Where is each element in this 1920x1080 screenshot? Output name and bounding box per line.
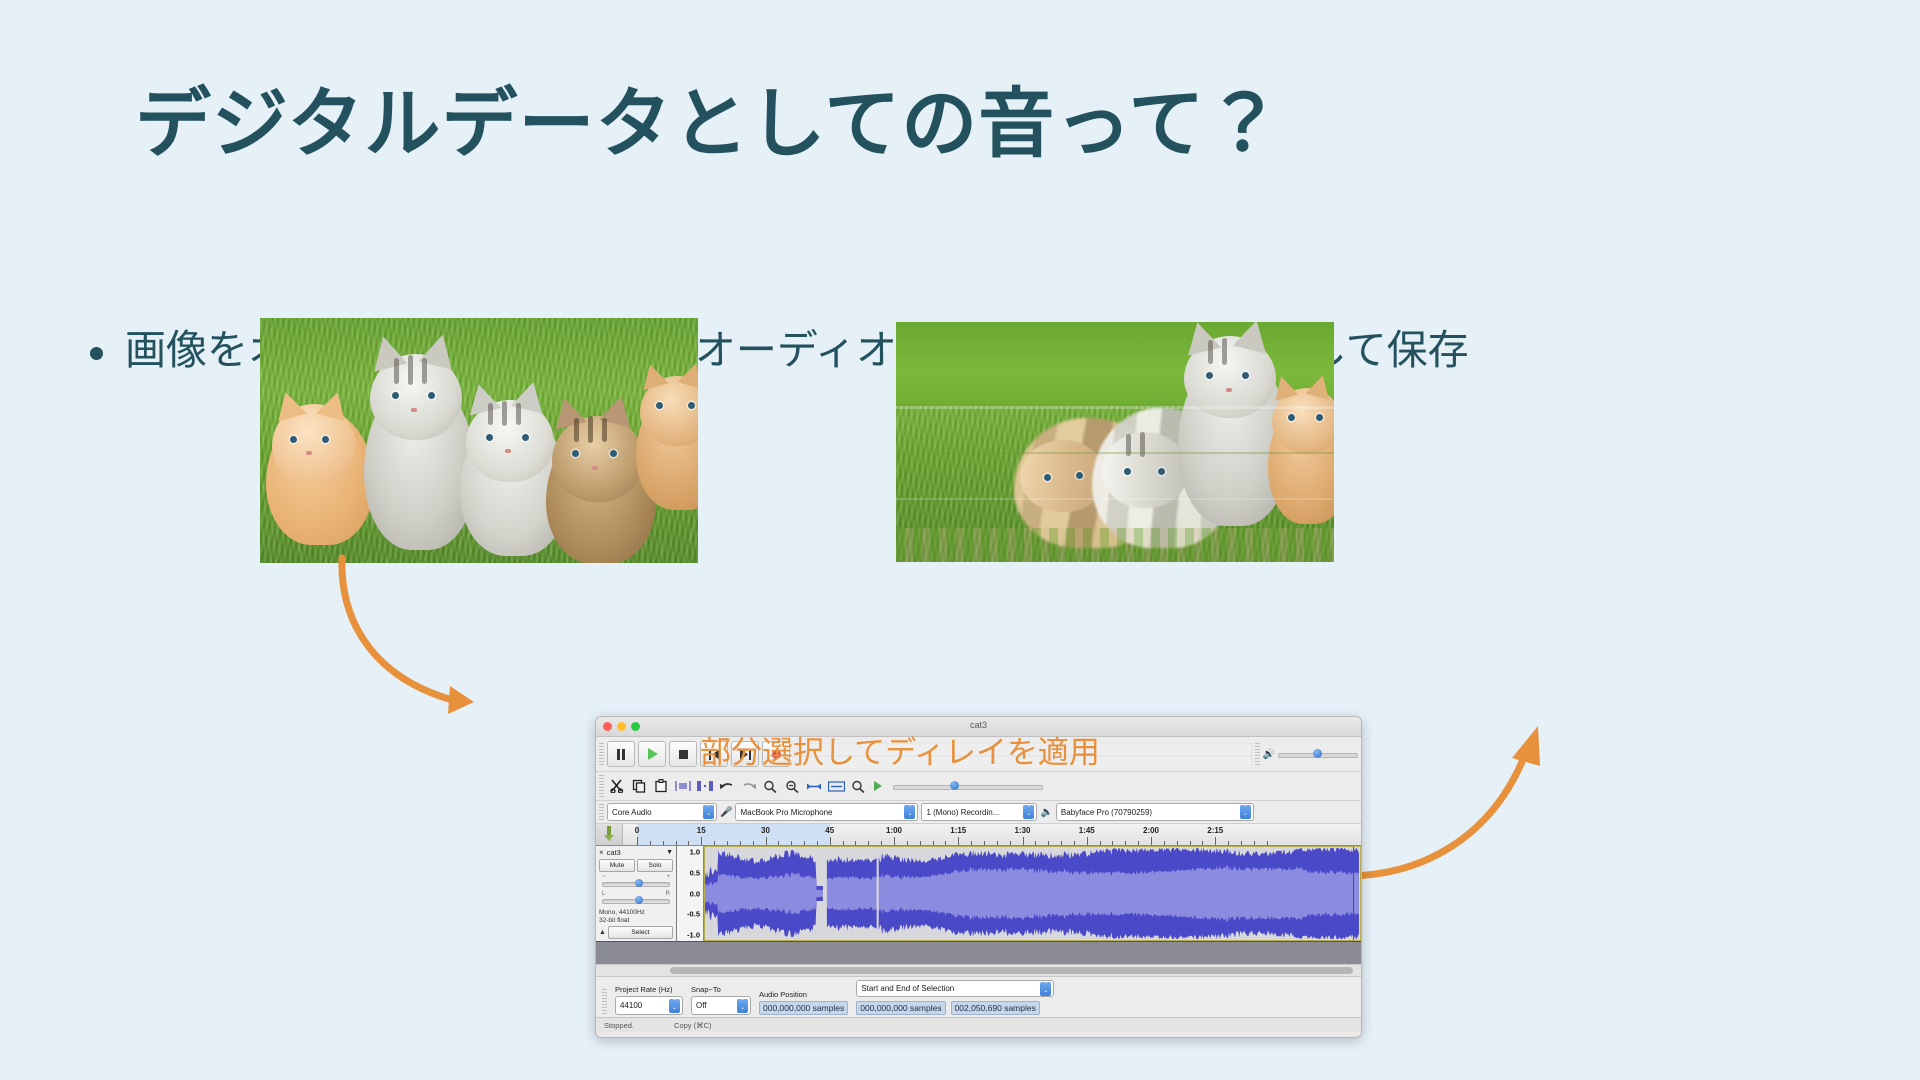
playback-device-select[interactable]: Babyface Pro (70790259) ⌃⌄ [1056,803,1254,821]
silence-audio-button[interactable] [695,777,714,796]
timeline-label: 45 [825,826,834,835]
timeline-tick [855,841,856,845]
track-control-panel[interactable]: × cat3 ▼ Mute Solo − + [596,846,677,941]
timeline-tick [1215,837,1216,845]
timeline-tick [1112,841,1113,845]
selection-end-value[interactable]: 002,050,690 samples [951,1001,1040,1015]
audio-host-value: Core Audio [612,808,701,817]
pan-slider[interactable]: L R [599,893,673,906]
snap-to-stepper[interactable]: ⌃⌄ [737,999,748,1013]
audio-position-value[interactable]: 000,000,000 samples [759,1001,848,1015]
timeline-tick [1087,837,1088,845]
timeline-tick [650,841,651,845]
gain-slider[interactable]: − + [599,876,673,889]
selection-mode-stepper[interactable]: ⌃⌄ [1040,982,1051,996]
timeline-tick [843,841,844,845]
timeline-tick [881,841,882,845]
timeline-tick [1164,841,1165,845]
timeline-tick [714,841,715,845]
collapse-track-button[interactable]: ▲ [599,929,606,936]
recording-device-select[interactable]: MacBook Pro Microphone ⌃⌄ [735,803,918,821]
play-at-speed-button[interactable] [871,777,890,796]
project-rate-field[interactable]: Project Rate (Hz) 44100 ⌃⌄ [615,985,683,1015]
timeline-pinned-play-button[interactable] [596,824,623,845]
audio-position-field[interactable]: Audio Position 000,000,000 samples [759,990,848,1015]
timeline-label: 2:00 [1143,826,1159,835]
selection-edge-cursor [1353,847,1354,940]
timeline-tick [1267,841,1268,845]
timeline-tick [1074,841,1075,845]
timeline-tick [907,841,908,845]
timeline-tick [766,837,767,845]
vertical-ruler-label: 0.0 [690,889,700,898]
snap-to-label: Snap−To [691,985,751,994]
timeline-tick [868,841,869,845]
zoom-in-button[interactable] [761,777,780,796]
timeline-tick [1035,841,1036,845]
timeline-tick [727,841,728,845]
timeline-label: 0 [635,826,639,835]
pan-right-label: R [666,891,670,897]
timeline-label: 30 [761,826,770,835]
vertical-ruler-label: 1.0 [690,848,700,857]
timeline-tick [1177,841,1178,845]
close-track-button[interactable]: × [599,848,604,857]
audio-position-label: Audio Position [759,990,848,999]
page-title: デジタルデータとしての音って？ [135,62,1282,172]
timeline-tick [688,841,689,845]
zoom-toggle-button[interactable] [849,777,868,796]
mute-button[interactable]: Mute [599,859,635,872]
timeline-tick [740,841,741,845]
timeline-tick [1023,837,1024,845]
playback-device-value: Babyface Pro (70790259) [1061,808,1238,817]
audio-host-select[interactable]: Core Audio ⌃⌄ [607,803,717,821]
waveform-display[interactable] [704,846,1361,941]
recording-device-value: MacBook Pro Microphone [740,808,902,817]
vertical-ruler-label: -1.0 [687,931,700,940]
edit-toolbar-grip[interactable] [599,775,604,797]
vertical-ruler-label: 0.5 [690,868,700,877]
timeline-tick [945,841,946,845]
stop-button[interactable] [669,741,697,767]
status-hint: Copy (⌘C) [674,1021,712,1030]
gain-slider-thumb[interactable] [635,879,643,887]
recording-channels-value: 1 (Mono) Recordin... [926,808,1021,817]
device-toolbar-grip[interactable] [599,804,604,820]
snap-to-select[interactable]: Off ⌃⌄ [691,996,751,1015]
timeline-tick [1254,841,1255,845]
timeline-tick [1151,837,1152,845]
speaker-icon-device: 🔈 [1040,807,1052,818]
pan-left-label: L [602,891,605,897]
audio-track[interactable]: × cat3 ▼ Mute Solo − + [596,846,1361,942]
timeline-tick [971,841,972,845]
horizontal-scrollbar[interactable] [596,964,1361,976]
selection-start-value[interactable]: 000,000,000 samples [856,1001,945,1015]
timeline-tick [920,841,921,845]
fit-selection-button[interactable] [805,777,824,796]
device-toolbar[interactable]: Core Audio ⌃⌄ 🎤 MacBook Pro Microphone ⌃… [596,801,1361,824]
status-state: Stopped. [604,1021,634,1030]
fit-project-button[interactable] [827,777,846,796]
selection-toolbar-grip[interactable] [602,989,607,1015]
cut-button[interactable] [607,777,626,796]
timeline-tick [1100,841,1101,845]
gain-minus-label: − [602,874,606,880]
vertical-ruler: 1.00.50.0-0.5-1.0 [677,846,704,941]
output-volume-slider[interactable] [1278,747,1358,761]
project-rate-stepper[interactable]: ⌃⌄ [669,999,680,1013]
timeline-tick [933,841,934,845]
playback-device-stepper[interactable]: ⌃⌄ [1240,805,1251,819]
timeline-label: 1:15 [950,826,966,835]
paste-button[interactable] [651,777,670,796]
track-area[interactable]: × cat3 ▼ Mute Solo − + [596,846,1361,964]
track-format-line-2: 32-bit float [599,917,673,925]
timeline-tick [1228,841,1229,845]
timeline-tick [676,841,677,845]
recording-channels-select[interactable]: 1 (Mono) Recordin... ⌃⌄ [921,803,1037,821]
timeline-tick [753,841,754,845]
snap-to-value: Off [696,1001,735,1010]
original-kitten-photo [260,318,698,563]
timeline-tick [958,837,959,845]
timeline-tick [1048,841,1049,845]
arrow-from-audacity [1340,690,1580,890]
timeline-tick [1202,841,1203,845]
toolbar-grip[interactable] [599,743,604,765]
timeline-tick [997,841,998,845]
selection-mode-value: Start and End of Selection [861,984,1038,993]
timeline-tick [1061,841,1062,845]
timeline-tick [663,841,664,845]
project-rate-select[interactable]: 44100 ⌃⌄ [615,996,683,1015]
copy-button[interactable] [629,777,648,796]
timeline-label: 1:45 [1079,826,1095,835]
timeline-tick [1190,841,1191,845]
timeline-tick [1125,841,1126,845]
status-bar: Stopped. Copy (⌘C) [596,1017,1361,1032]
selection-field[interactable]: Start and End of Selection ⌃⌄ 000,000,00… [856,980,1355,1015]
slide-root: デジタルデータとしての音って？ 画像をオーディオとして読み、オーディオを編集して… [0,0,1920,1080]
pause-button[interactable] [607,741,635,767]
timeline-selection-region [637,824,830,845]
overlay-annotation-text: 部分選択してディレイを適用 [700,727,1100,772]
timeline-tick [637,837,638,845]
redo-button[interactable] [739,777,758,796]
selection-mode-select[interactable]: Start and End of Selection ⌃⌄ [856,980,1054,997]
timeline-tick [1138,841,1139,845]
play-speed-slider[interactable] [893,780,1043,792]
track-menu-button[interactable]: ▼ [666,849,673,856]
timeline-tick [830,837,831,845]
project-rate-label: Project Rate (Hz) [615,985,683,994]
solo-button[interactable]: Solo [637,859,673,872]
timeline-label: 1:30 [1014,826,1030,835]
microphone-icon: 🎤 [720,807,732,818]
play-button[interactable] [638,741,666,767]
snap-to-field[interactable]: Snap−To Off ⌃⌄ [691,985,751,1015]
recording-device-stepper[interactable]: ⌃⌄ [904,805,915,819]
timeline-tick [817,841,818,845]
timeline-scale[interactable]: 01530451:001:151:301:452:002:15 [623,824,1361,845]
recording-channels-stepper[interactable]: ⌃⌄ [1023,805,1034,819]
timeline-label: 1:00 [886,826,902,835]
timeline-label: 2:15 [1207,826,1223,835]
arrow-to-audacity [300,548,560,748]
volume-toolbar-grip[interactable] [1255,743,1260,765]
timeline-tick [1010,841,1011,845]
speaker-icon: 🔊 [1263,749,1275,760]
gain-plus-label: + [666,874,670,880]
undo-button[interactable] [717,777,736,796]
timeline-tick [791,841,792,845]
timeline-tick [1241,841,1242,845]
bullet-marker [90,347,103,360]
zoom-out-button[interactable] [783,777,802,796]
track-name[interactable]: cat3 [607,848,663,857]
timeline-tick [984,841,985,845]
select-track-button[interactable]: Select [608,926,673,939]
pan-slider-thumb[interactable] [635,896,643,904]
glitched-kitten-photo [896,322,1334,562]
timeline-tick [894,837,895,845]
timeline-tick [701,837,702,845]
timeline-tick [804,841,805,845]
audio-host-stepper[interactable]: ⌃⌄ [703,805,714,819]
selection-toolbar[interactable]: Project Rate (Hz) 44100 ⌃⌄ Snap−To Off ⌃… [596,976,1361,1017]
project-rate-value: 44100 [620,1001,667,1010]
timeline-label: 15 [697,826,706,835]
track-format-line-1: Mono, 44100Hz [599,909,673,917]
timeline-ruler[interactable]: 01530451:001:151:301:452:002:15 [596,824,1361,846]
edit-toolbar[interactable] [596,772,1361,801]
scrollbar-thumb[interactable] [670,967,1353,974]
timeline-tick [778,841,779,845]
vertical-ruler-label: -0.5 [687,910,700,919]
trim-audio-button[interactable] [673,777,692,796]
